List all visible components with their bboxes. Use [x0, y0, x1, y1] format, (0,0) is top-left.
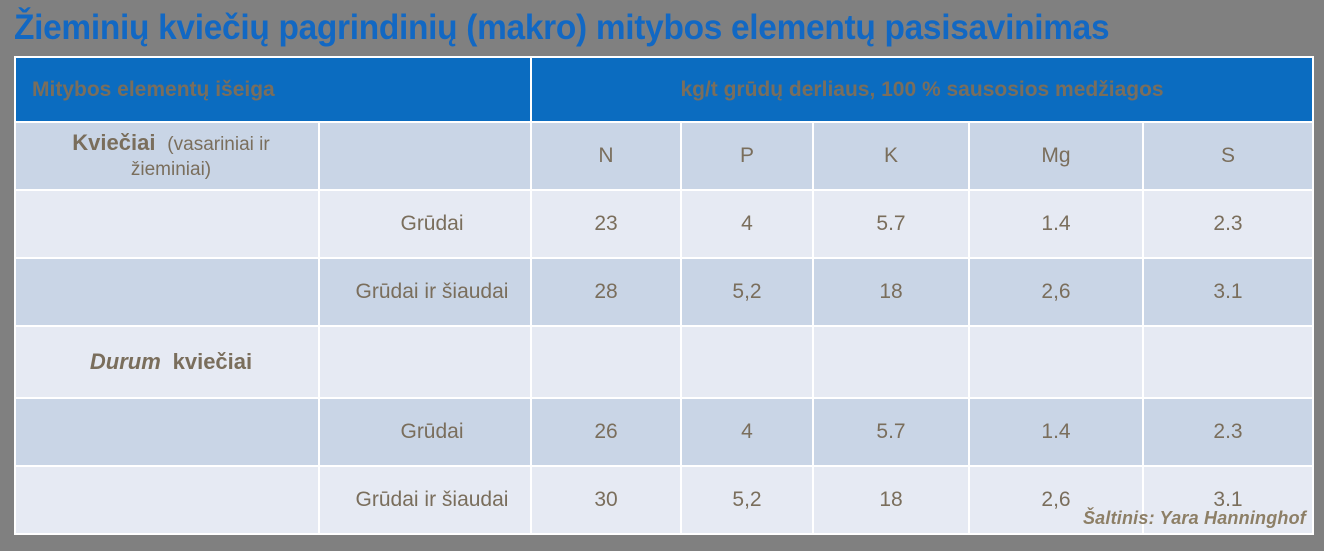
- table-row-section-durum: Durum kviečiai: [16, 327, 1312, 397]
- table-row-element-symbols: Kviečiai (vasariniai ir žieminiai) N P K…: [16, 123, 1312, 189]
- cell-p-empty: [682, 327, 812, 397]
- part-cell-empty: [320, 327, 530, 397]
- column-header-n: N: [532, 123, 680, 189]
- source-attribution: Šaltinis: Yara Hanninghof: [1083, 508, 1306, 529]
- cell-s-empty: [1144, 327, 1312, 397]
- column-header-p: P: [682, 123, 812, 189]
- cell-k: 18: [814, 467, 968, 533]
- header-cell-right: kg/t grūdų derliaus, 100 % sausosios med…: [532, 58, 1312, 121]
- crop-cell-spacer: [16, 467, 318, 533]
- crop-label-durum: Durum kviečiai: [16, 327, 318, 397]
- cell-k: 5.7: [814, 399, 968, 465]
- cell-n: 26: [532, 399, 680, 465]
- row-label-grain: Grūdai: [320, 191, 530, 257]
- cell-n: 23: [532, 191, 680, 257]
- crop-label-wheat: Kviečiai (vasariniai ir žieminiai): [16, 123, 318, 189]
- cell-mg: 1.4: [970, 399, 1142, 465]
- header-cell-left: Mitybos elementų išeiga: [16, 58, 530, 121]
- crop-cell-spacer: [16, 399, 318, 465]
- column-header-s: S: [1144, 123, 1312, 189]
- table-row: Grūdai ir šiaudai 28 5,2 18 2,6 3.1: [16, 259, 1312, 325]
- nutrient-uptake-table: Mitybos elementų išeiga kg/t grūdų derli…: [14, 56, 1314, 535]
- table-header-row: Mitybos elementų išeiga kg/t grūdų derli…: [16, 58, 1312, 121]
- page-title: Žieminių kviečių pagrindinių (makro) mit…: [14, 6, 1252, 52]
- cell-n-empty: [532, 327, 680, 397]
- cell-k-empty: [814, 327, 968, 397]
- cell-mg: 2,6: [970, 259, 1142, 325]
- column-header-mg: Mg: [970, 123, 1142, 189]
- table-row: Grūdai 23 4 5.7 1.4 2.3: [16, 191, 1312, 257]
- cell-mg-empty: [970, 327, 1142, 397]
- slide-root: Žieminių kviečių pagrindinių (makro) mit…: [0, 0, 1324, 551]
- cell-k: 18: [814, 259, 968, 325]
- nutrient-uptake-table-container: Mitybos elementų išeiga kg/t grūdų derli…: [14, 56, 1308, 503]
- crop-cell-spacer: [16, 191, 318, 257]
- crop-cell-spacer: [16, 259, 318, 325]
- cell-n: 30: [532, 467, 680, 533]
- row-label-grain-and-straw: Grūdai ir šiaudai: [320, 467, 530, 533]
- crop-name-text: Kviečiai: [72, 130, 155, 155]
- cell-mg: 1.4: [970, 191, 1142, 257]
- cell-s: 2.3: [1144, 399, 1312, 465]
- row-label-grain: Grūdai: [320, 399, 530, 465]
- cell-p: 4: [682, 399, 812, 465]
- table-row: Grūdai 26 4 5.7 1.4 2.3: [16, 399, 1312, 465]
- crop-name-text: kviečiai: [173, 349, 253, 374]
- cell-p: 5,2: [682, 467, 812, 533]
- cell-n: 28: [532, 259, 680, 325]
- cell-p: 4: [682, 191, 812, 257]
- column-header-k: K: [814, 123, 968, 189]
- part-cell-empty: [320, 123, 530, 189]
- cell-s: 3.1: [1144, 259, 1312, 325]
- row-label-grain-and-straw: Grūdai ir šiaudai: [320, 259, 530, 325]
- cell-k: 5.7: [814, 191, 968, 257]
- crop-italic-text: Durum: [90, 349, 161, 374]
- cell-s: 2.3: [1144, 191, 1312, 257]
- cell-p: 5,2: [682, 259, 812, 325]
